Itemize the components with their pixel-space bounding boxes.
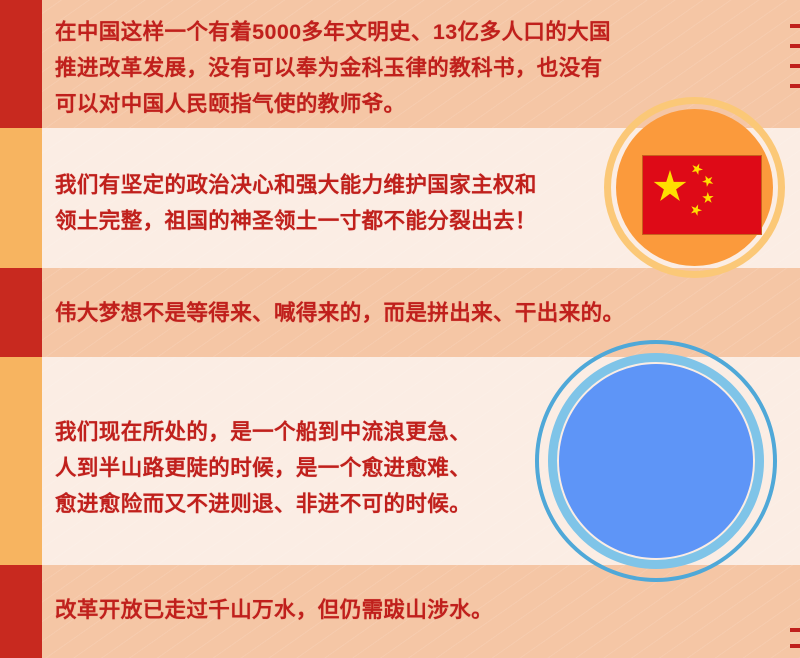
stripe-segment-5: [0, 565, 42, 658]
flag-star-large: [653, 170, 687, 204]
chinese-flag-medallion: [604, 97, 785, 278]
flag-star-small-2: [700, 173, 717, 190]
stripe-segment-2: [0, 128, 42, 268]
stripe-segment-3: [0, 268, 42, 357]
quote-block-5: 改革开放已走过千山万水，但仍需跋山涉水。: [55, 592, 493, 628]
flag-of-china-icon: [642, 155, 762, 235]
quote-block-4: 我们现在所处的，是一个船到中流浪更急、 人到半山路更陡的时候，是一个愈进愈难、 …: [55, 414, 471, 522]
quote-block-2: 我们有坚定的政治决心和强大能力维护国家主权和 领土完整，祖国的神圣领土一寸都不能…: [55, 167, 537, 239]
edge-tick-3: [790, 64, 800, 68]
flag-star-small-1: [689, 161, 705, 177]
flag-star-small-4: [688, 202, 704, 218]
stripe-segment-1: [0, 0, 42, 128]
blue-inner-disc: [559, 364, 753, 558]
edge-tick-5: [790, 628, 800, 632]
poster-canvas: 在中国这样一个有着5000多年文明史、13亿多人口的大国 推进改革发展，没有可以…: [0, 0, 800, 658]
edge-tick-1: [790, 24, 800, 28]
edge-tick-4: [790, 84, 800, 88]
edge-tick-6: [790, 644, 800, 648]
blue-circle-medallion: [535, 340, 777, 582]
quote-block-1: 在中国这样一个有着5000多年文明史、13亿多人口的大国 推进改革发展，没有可以…: [55, 14, 611, 122]
stripe-segment-4: [0, 357, 42, 565]
flag-star-small-3: [700, 190, 715, 205]
edge-tick-2: [790, 44, 800, 48]
quote-block-3: 伟大梦想不是等得来、喊得来的，而是拼出来、干出来的。: [55, 295, 624, 331]
